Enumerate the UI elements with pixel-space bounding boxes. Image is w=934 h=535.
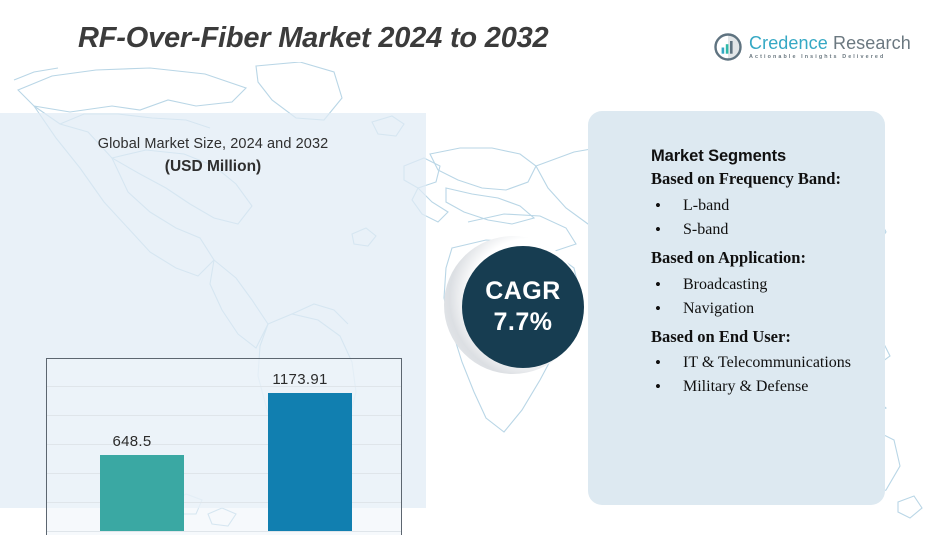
page-title: RF-Over-Fiber Market 2024 to 2032 <box>78 22 548 55</box>
segment-list-end-user: IT & Telecommunications Military & Defen… <box>651 351 866 399</box>
brand-name: Credence Research <box>749 34 911 52</box>
segment-heading-end-user: Based on End User: <box>651 326 866 348</box>
list-item: IT & Telecommunications <box>651 351 866 375</box>
market-segments-title: Market Segments <box>651 147 866 166</box>
list-item: S-band <box>651 218 866 242</box>
cagr-value: 7.7% <box>494 308 553 337</box>
list-item-label: IT & Telecommunications <box>683 354 851 371</box>
brand-name-part1: Credence <box>749 33 828 53</box>
list-item: Navigation <box>651 297 866 321</box>
plot-area: 648.5 2024 1173.91 2032 <box>47 359 401 535</box>
chart-caption-line2: (USD Million) <box>0 158 426 176</box>
list-item: Military & Defense <box>651 375 866 399</box>
brand-name-part2: Research <box>833 33 911 53</box>
bar-value-label-2032: 1173.91 <box>230 371 370 388</box>
infographic-canvas: RF-Over-Fiber Market 2024 to 2032 Creden… <box>0 0 934 535</box>
bar-value-label-2024: 648.5 <box>62 433 202 450</box>
chart-caption-line1: Global Market Size, 2024 and 2032 <box>0 136 426 152</box>
bar-chart-circle-icon <box>714 33 742 61</box>
list-item: Broadcasting <box>651 273 866 297</box>
bar-2032 <box>268 393 352 531</box>
segment-list-application: Broadcasting Navigation <box>651 273 866 321</box>
market-segments-content: Market Segments Based on Frequency Band:… <box>651 147 866 404</box>
market-segments-panel: Market Segments Based on Frequency Band:… <box>588 111 885 505</box>
bar-2024 <box>100 455 184 531</box>
cagr-badge: CAGR 7.7% <box>444 236 592 384</box>
brand-logo: Credence Research Actionable Insights De… <box>714 33 911 61</box>
cagr-label: CAGR <box>485 277 561 306</box>
segment-heading-application: Based on Application: <box>651 247 866 269</box>
segment-heading-frequency-band: Based on Frequency Band: <box>651 168 866 190</box>
brand-logo-text: Credence Research Actionable Insights De… <box>749 34 911 60</box>
cagr-circle: CAGR 7.7% <box>462 246 584 368</box>
brand-tagline: Actionable Insights Delivered <box>749 55 911 60</box>
segment-list-frequency-band: L-band S-band <box>651 194 866 242</box>
chart-panel: Global Market Size, 2024 and 2032 (USD M… <box>0 113 426 508</box>
list-item: L-band <box>651 194 866 218</box>
bar-chart: 648.5 2024 1173.91 2032 <box>46 358 402 535</box>
chart-caption: Global Market Size, 2024 and 2032 (USD M… <box>0 136 426 176</box>
